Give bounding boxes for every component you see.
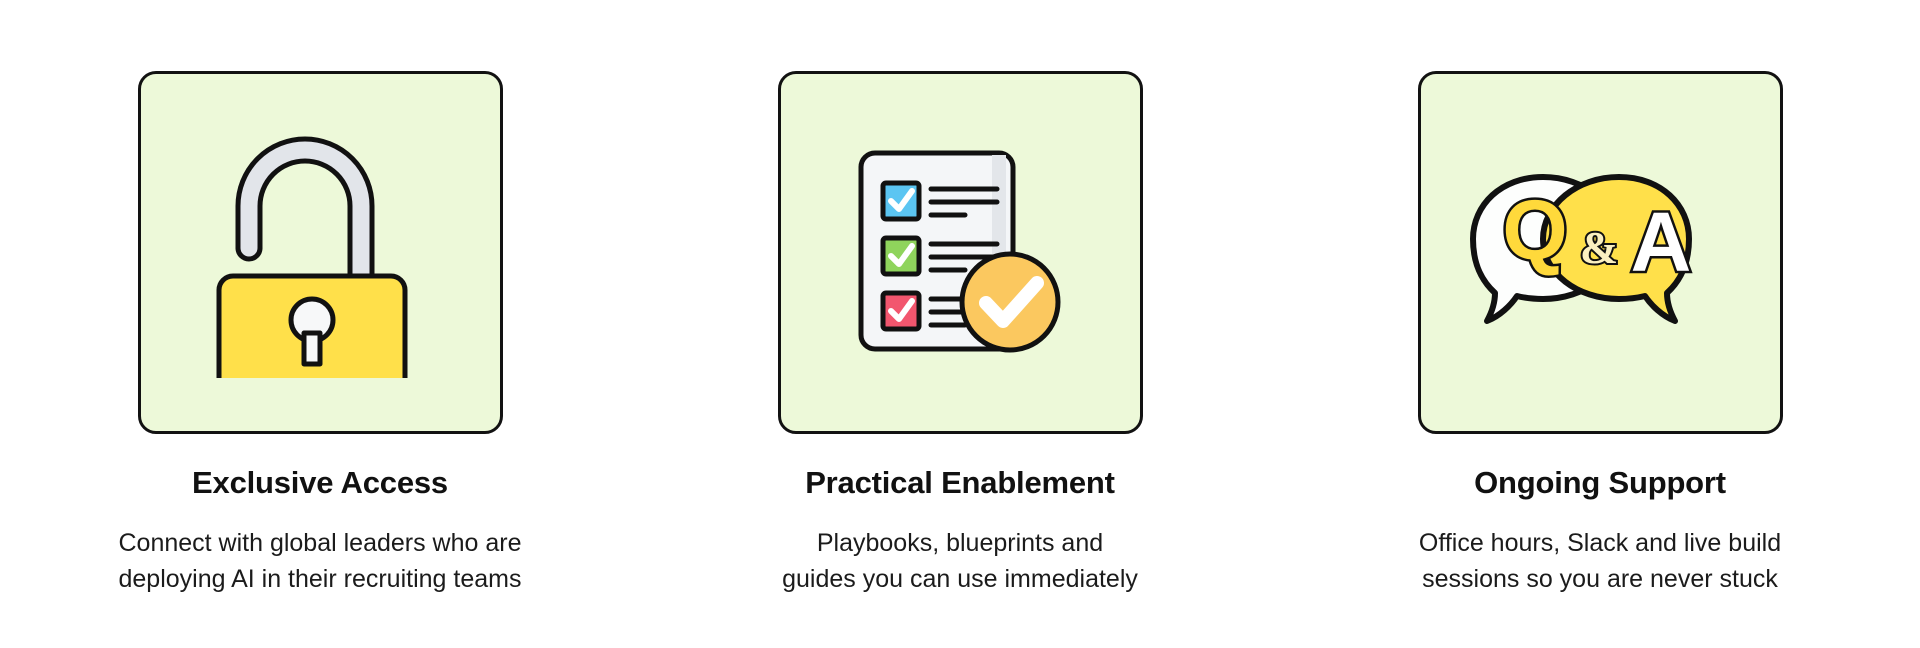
card-description: Office hours, Slack and live build sessi… bbox=[1419, 501, 1781, 597]
svg-text:&: & bbox=[1580, 222, 1618, 273]
checklist-approved-icon bbox=[853, 145, 1068, 360]
feature-card-ongoing-support: Q A & Ongoing Support Office hours, Slac… bbox=[1280, 0, 1920, 648]
feature-card-exclusive-access: Exclusive Access Connect with global lea… bbox=[0, 0, 640, 648]
icon-tile-exclusive-access bbox=[138, 71, 503, 434]
card-description: Connect with global leaders who are depl… bbox=[118, 501, 521, 597]
feature-card-grid: Exclusive Access Connect with global lea… bbox=[0, 0, 1920, 648]
icon-tile-practical-enablement bbox=[778, 71, 1143, 434]
card-title: Practical Enablement bbox=[805, 434, 1115, 501]
card-description: Playbooks, blueprints and guides you can… bbox=[782, 501, 1138, 597]
feature-card-practical-enablement: Practical Enablement Playbooks, blueprin… bbox=[640, 0, 1280, 648]
card-title: Ongoing Support bbox=[1474, 434, 1726, 501]
svg-text:Q: Q bbox=[1502, 183, 1567, 277]
open-padlock-icon bbox=[205, 128, 435, 378]
card-title: Exclusive Access bbox=[192, 434, 448, 501]
svg-text:A: A bbox=[1631, 195, 1692, 289]
icon-tile-ongoing-support: Q A & bbox=[1418, 71, 1783, 434]
qa-speech-bubbles-icon: Q A & bbox=[1465, 163, 1735, 343]
